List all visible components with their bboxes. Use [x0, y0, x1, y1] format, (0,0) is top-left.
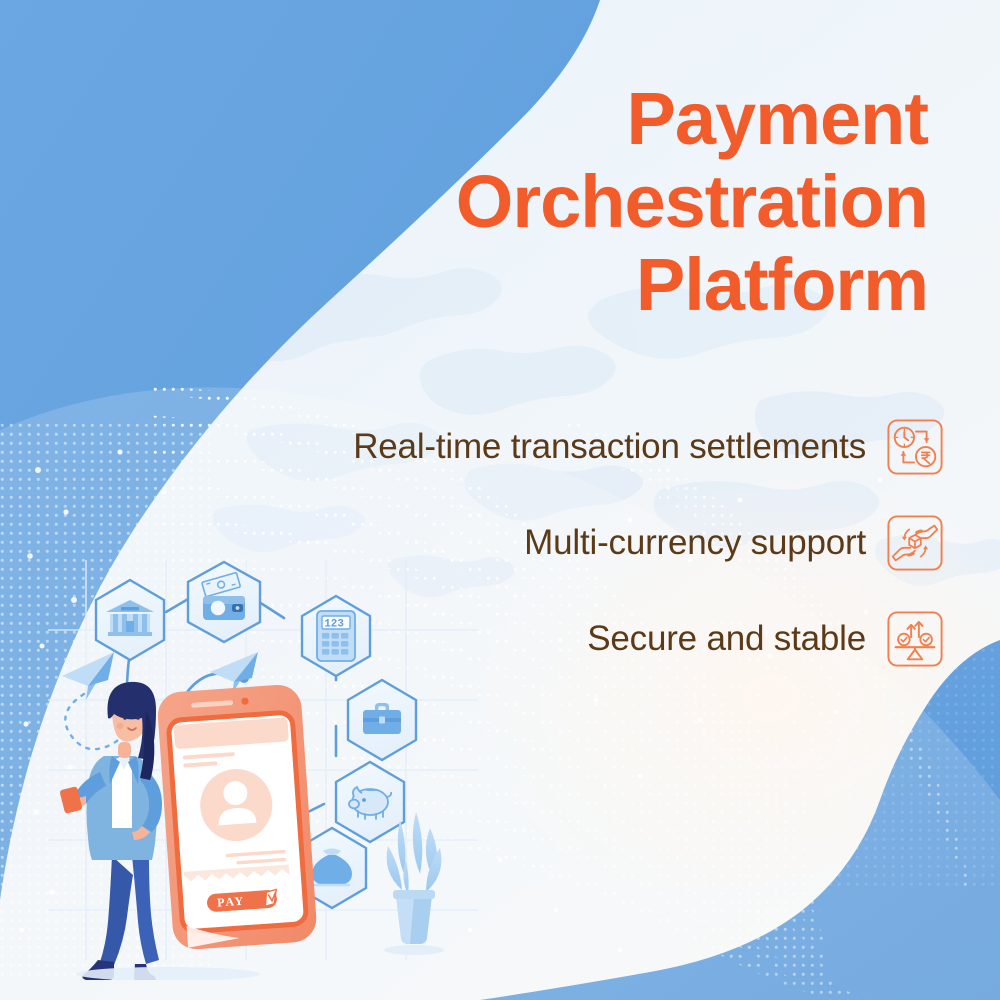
hex-bank-icon: [96, 580, 164, 660]
feature-label: Multi-currency support: [524, 523, 866, 563]
phone-mockup: PAY: [156, 683, 318, 950]
headline-line-2: Orchestration: [308, 161, 928, 244]
paper-plane-icon: [62, 652, 114, 700]
feature-item-secure-stable: Secure and stable: [587, 610, 944, 668]
clock-rupee-exchange-icon: [886, 418, 944, 476]
headline: Payment Orchestration Platform: [308, 78, 928, 327]
feature-list: Real-time transaction settlements: [204, 418, 944, 668]
hands-exchange-icon: [886, 514, 944, 572]
balance-scale-shield-icon: [886, 610, 944, 668]
feature-item-real-time-settlements: Real-time transaction settlements: [353, 418, 944, 476]
headline-line-3: Platform: [308, 244, 928, 327]
businesswoman-character: [59, 682, 162, 980]
hex-piggy-bank-icon: [336, 762, 404, 842]
potted-plant-icon: [384, 812, 444, 955]
feature-item-multi-currency: Multi-currency support: [524, 514, 944, 572]
poster-canvas: Payment Orchestration Platform Real-time…: [0, 0, 1000, 1000]
pay-button-label: PAY: [217, 894, 245, 910]
feature-label: Secure and stable: [587, 619, 866, 659]
feature-label: Real-time transaction settlements: [353, 427, 866, 467]
headline-line-1: Payment: [308, 78, 928, 161]
